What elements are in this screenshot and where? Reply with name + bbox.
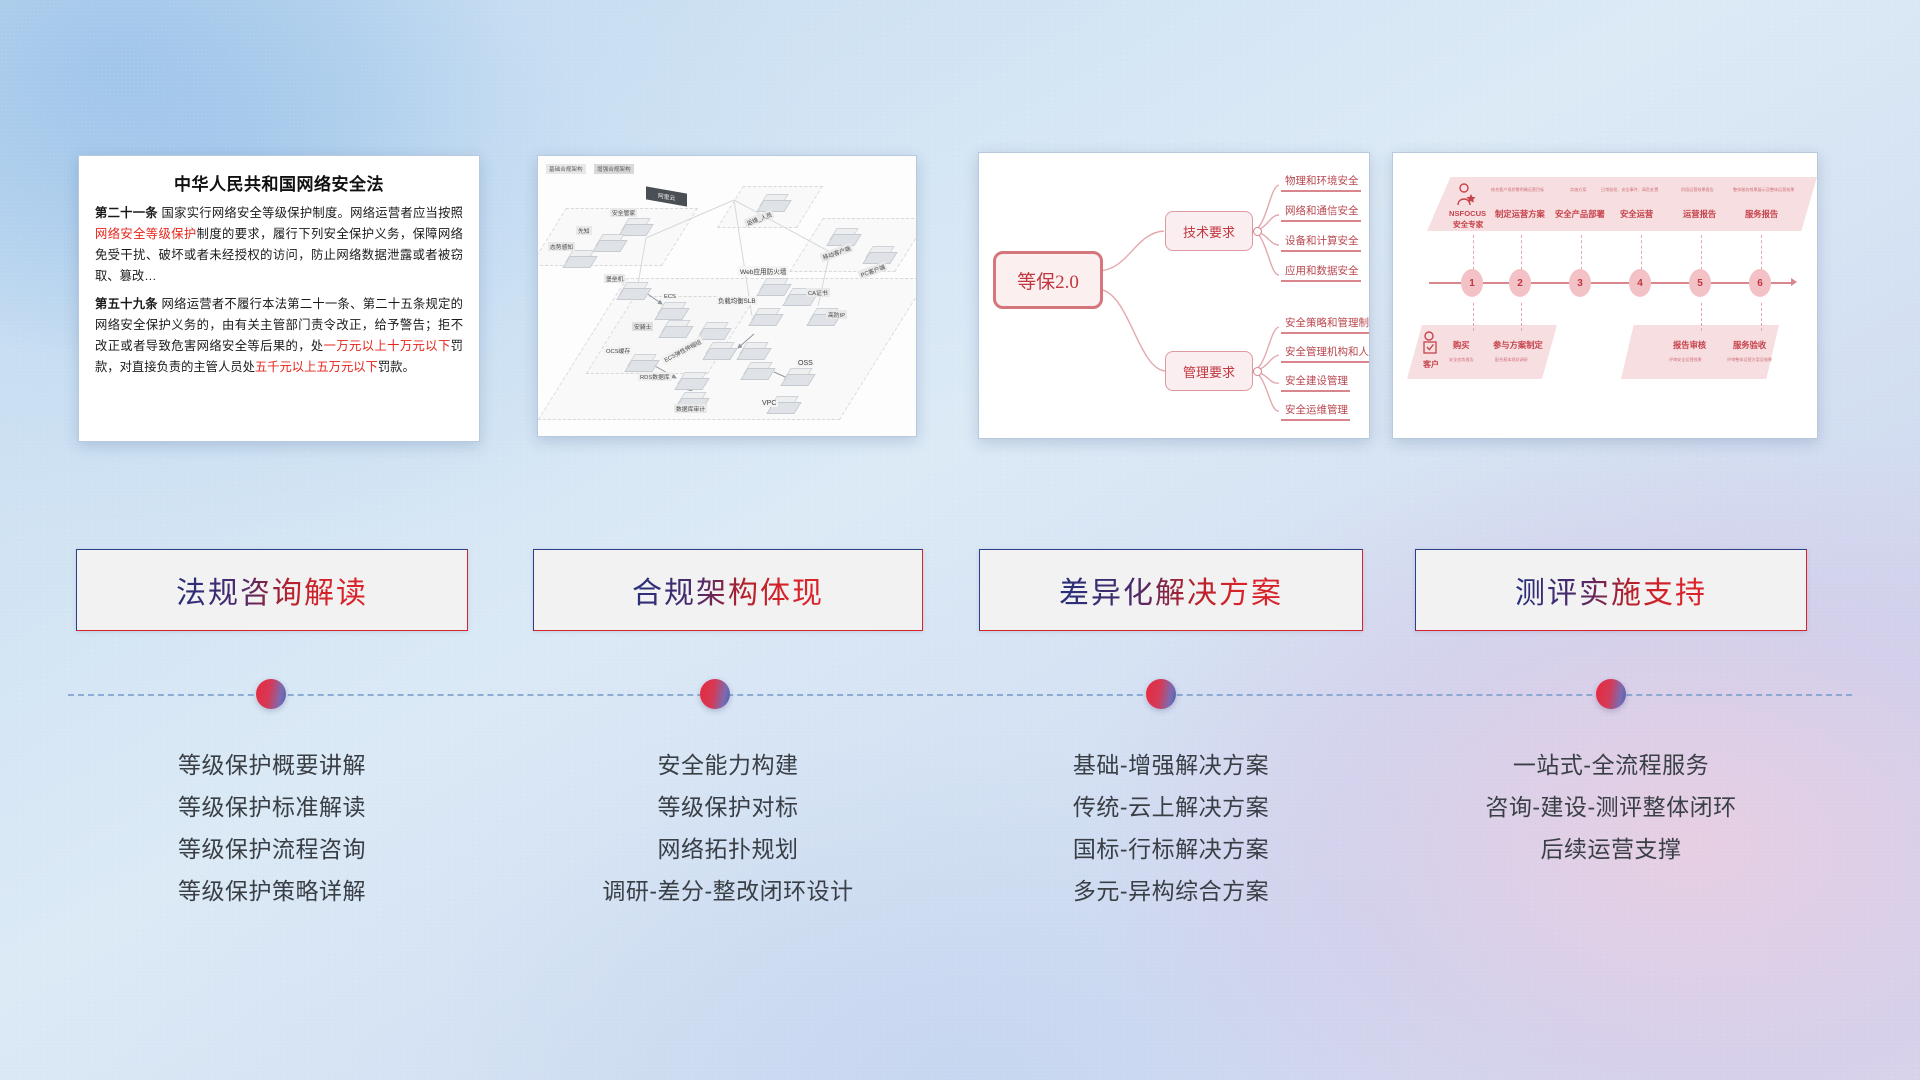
arch-node-box (596, 234, 622, 250)
list-item: 一站式-全流程服务 (1415, 745, 1807, 787)
nsfocus-bottom-big: 报告审核 (1673, 339, 1706, 351)
heading-box-3[interactable]: 差异化解决方案 (979, 549, 1363, 631)
heading-label-4: 测评实施支持 (1515, 568, 1707, 612)
card-law: 中华人民共和国网络安全法 第二十一条 国家实行网络安全等级保护制度。网络运营者应… (78, 155, 480, 442)
law-p1-text-a: 国家实行网络安全等级保护制度。网络运营者应当按照 (158, 206, 463, 220)
heading-box-4[interactable]: 测评实施支持 (1415, 549, 1807, 631)
list-column-3: 基础-增强解决方案 传统-云上解决方案 国标-行标解决方案 多元-异构综合方案 (979, 745, 1363, 912)
mindmap-knob-management (1253, 367, 1262, 376)
timeline-dot-1[interactable] (256, 679, 286, 709)
arch-node-box (706, 342, 732, 358)
arch-node-box (752, 308, 778, 324)
list-column-2: 安全能力构建 等级保护对标 网络拓扑规划 调研-差分-整改闭环设计 (533, 745, 923, 912)
list-column-4: 一站式-全流程服务 咨询-建设-测评整体闭环 后续运营支撑 (1415, 745, 1807, 871)
law-article-21-label: 第二十一条 (95, 206, 158, 220)
arch-label-RDS数据库: RDS数据库 (638, 372, 672, 381)
card-architecture: 基础合规架构 增强合规架构 (537, 155, 917, 437)
heading-box-1[interactable]: 法规咨询解读 (76, 549, 468, 631)
mindmap-leaf: 安全运维管理 (1281, 402, 1350, 421)
arch-node-box (784, 368, 810, 384)
arch-node-box (866, 246, 892, 262)
mindmap-diagram: 等保2.0 技术要求 物理和环境安全 网络和通信安全 设备和计算安全 应用和数据… (979, 153, 1369, 438)
nsfocus-connector (1473, 303, 1475, 331)
mindmap-leaf: 设备和计算安全 (1281, 233, 1361, 252)
arch-label-ECS: ECS (662, 294, 678, 300)
nsfocus-top-small: 结合客户现状需明确运营目标 (1491, 187, 1544, 193)
arch-label-安骑士: 安骑士 (632, 322, 653, 331)
arch-node-box (700, 322, 726, 338)
list-item: 调研-差分-整改闭环设计 (533, 871, 923, 913)
nsfocus-axis-line (1429, 282, 1793, 284)
nsfocus-axis-arrow (1791, 278, 1797, 286)
mindmap-leaf: 安全策略和管理制度 (1281, 315, 1370, 334)
law-paragraph-21: 第二十一条 国家实行网络安全等级保护制度。网络运营者应当按照网络安全等级保护制度… (95, 203, 463, 288)
list-item: 等级保护流程咨询 (76, 829, 468, 871)
nsfocus-bottom-big: 服务验收 (1733, 339, 1766, 351)
law-p1-highlight: 网络安全等级保护 (95, 227, 197, 241)
nsfocus-top-small: 实施方案 (1570, 187, 1586, 193)
page-root: 中华人民共和国网络安全法 第二十一条 国家实行网络安全等级保护制度。网络运营者应… (0, 0, 1920, 1080)
arch-node-box (830, 228, 856, 244)
arch-label-Web应用防火墙: Web应用防火墙 (738, 266, 788, 276)
arch-label-安全管家: 安全管家 (610, 208, 637, 217)
law-title: 中华人民共和国网络安全法 (95, 170, 463, 195)
arch-node-box (740, 342, 766, 358)
nsfocus-expert-line2: 安全专家 (1453, 219, 1483, 230)
arch-label-OSS: OSS (796, 360, 815, 367)
nsfocus-bottom-small: 评审整体运营方案及效果 (1727, 357, 1772, 363)
mindmap-leaf: 安全建设管理 (1281, 373, 1350, 392)
nsfocus-timeline: NSFOCUS 安全专家 客户 结合客户现状需明确运营目标 制定运营方案 实施方… (1393, 153, 1817, 438)
list-item: 等级保护标准解读 (76, 787, 468, 829)
nsfocus-bottom-band-right (1621, 325, 1779, 379)
mindmap-leaf: 物理和环境安全 (1281, 173, 1361, 192)
arch-label-VPC: VPC (760, 400, 778, 407)
nsfocus-step-dot: 6 (1749, 269, 1771, 297)
nsfocus-customer-label: 客户 (1423, 359, 1439, 370)
nsfocus-top-big: 安全运营 (1620, 208, 1653, 220)
nsfocus-expert-line1: NSFOCUS (1449, 209, 1486, 218)
timeline-dot-4[interactable] (1596, 679, 1626, 709)
arch-node-box (622, 218, 648, 234)
arch-label-态势感知: 态势感知 (548, 242, 575, 251)
nsfocus-top-small: 阶段运营效果报告 (1681, 187, 1714, 193)
arch-label-数据库审计: 数据库审计 (674, 404, 707, 413)
mindmap-leaf: 应用和数据安全 (1281, 263, 1361, 282)
timeline-dot-2[interactable] (700, 679, 730, 709)
nsfocus-step-dot: 3 (1569, 269, 1591, 297)
nsfocus-connector (1701, 303, 1703, 331)
arch-label-高防IP: 高防IP (826, 310, 847, 319)
nsfocus-step-dot: 4 (1629, 269, 1651, 297)
nsfocus-connector (1761, 303, 1763, 331)
mindmap-leaf: 安全管理机构和人员 (1281, 344, 1370, 363)
timeline-dashed-rail (68, 694, 1852, 696)
nsfocus-top-big: 运营报告 (1683, 208, 1716, 220)
law-p2-text-c: 罚款。 (378, 360, 415, 374)
nsfocus-bottom-small: 配合基本现状调研 (1495, 357, 1528, 363)
nsfocus-top-small: 日常巡检、安全事件、高危处置 (1601, 187, 1658, 193)
customer-person-icon (1421, 331, 1443, 357)
arch-node-box (678, 372, 704, 388)
nsfocus-top-band (1427, 177, 1817, 231)
arch-label-先知: 先知 (576, 226, 592, 235)
arch-label-堡垒机: 堡垒机 (604, 274, 625, 283)
arch-node-box (662, 320, 688, 336)
law-p2-highlight-a: 一万元以上十万元以下 (324, 339, 451, 353)
nsfocus-bottom-small: 评审安全运营效果 (1669, 357, 1702, 363)
arch-node-box (744, 362, 770, 378)
arch-node-box (628, 354, 654, 370)
nsfocus-step-dot: 1 (1461, 269, 1483, 297)
mindmap-leaf: 网络和通信安全 (1281, 203, 1361, 222)
law-article-59-label: 第五十九条 (95, 297, 158, 311)
arch-node-box (760, 194, 786, 210)
list-item: 等级保护概要讲解 (76, 745, 468, 787)
list-item: 等级保护对标 (533, 787, 923, 829)
nsfocus-bottom-big: 参与方案制定 (1493, 339, 1543, 351)
law-p2-highlight-b: 五千元以上五万元以下 (255, 360, 378, 374)
nsfocus-connector (1521, 303, 1523, 331)
list-item: 传统-云上解决方案 (979, 787, 1363, 829)
list-item: 网络拓扑规划 (533, 829, 923, 871)
arch-node-box (658, 302, 684, 318)
heading-label-1: 法规咨询解读 (176, 568, 368, 612)
heading-label-3: 差异化解决方案 (1059, 568, 1283, 612)
mindmap-branch-management: 管理要求 (1165, 351, 1253, 391)
heading-box-2[interactable]: 合规架构体现 (533, 549, 923, 631)
nsfocus-top-big: 服务报告 (1745, 208, 1778, 220)
list-item: 基础-增强解决方案 (979, 745, 1363, 787)
list-item: 国标-行标解决方案 (979, 829, 1363, 871)
card-mindmap: 等保2.0 技术要求 物理和环境安全 网络和通信安全 设备和计算安全 应用和数据… (978, 152, 1370, 439)
law-paragraph-59: 第五十九条 网络运营者不履行本法第二十一条、第二十五条规定的网络安全保护义务的，… (95, 294, 463, 379)
arch-label-负载均衡SLB: 负载均衡SLB (716, 296, 758, 305)
mindmap-knob-technical (1253, 227, 1262, 236)
timeline-dot-3[interactable] (1146, 679, 1176, 709)
arch-label-CA证书: CA证书 (806, 288, 830, 297)
arch-label-OCS缓存: OCS缓存 (604, 346, 632, 355)
expert-person-icon (1455, 183, 1477, 207)
nsfocus-top-small: 整体服务效果展示及整体运营效果 (1733, 187, 1794, 193)
nsfocus-bottom-small: 安全态势报告 (1449, 357, 1474, 363)
list-item: 咨询-建设-测评整体闭环 (1415, 787, 1807, 829)
list-item: 后续运营支撑 (1415, 829, 1807, 871)
heading-label-2: 合规架构体现 (632, 568, 824, 612)
arch-node-box (566, 250, 592, 266)
card-nsfocus-timeline: NSFOCUS 安全专家 客户 结合客户现状需明确运营目标 制定运营方案 实施方… (1392, 152, 1818, 439)
list-item: 多元-异构综合方案 (979, 871, 1363, 913)
nsfocus-step-dot: 5 (1689, 269, 1711, 297)
list-item: 等级保护策略详解 (76, 871, 468, 913)
architecture-diagram: 基础合规架构 增强合规架构 (538, 156, 916, 436)
mindmap-root-node: 等保2.0 (993, 251, 1103, 309)
list-column-1: 等级保护概要讲解 等级保护标准解读 等级保护流程咨询 等级保护策略详解 (76, 745, 468, 912)
arch-node-box (620, 282, 646, 298)
nsfocus-top-big: 安全产品部署 (1555, 208, 1605, 220)
nsfocus-bottom-big: 购买 (1453, 339, 1470, 351)
nsfocus-step-dot: 2 (1509, 269, 1531, 297)
nsfocus-top-big: 制定运营方案 (1495, 208, 1545, 220)
list-item: 安全能力构建 (533, 745, 923, 787)
arch-node-box (760, 278, 786, 294)
mindmap-branch-technical: 技术要求 (1165, 211, 1253, 251)
